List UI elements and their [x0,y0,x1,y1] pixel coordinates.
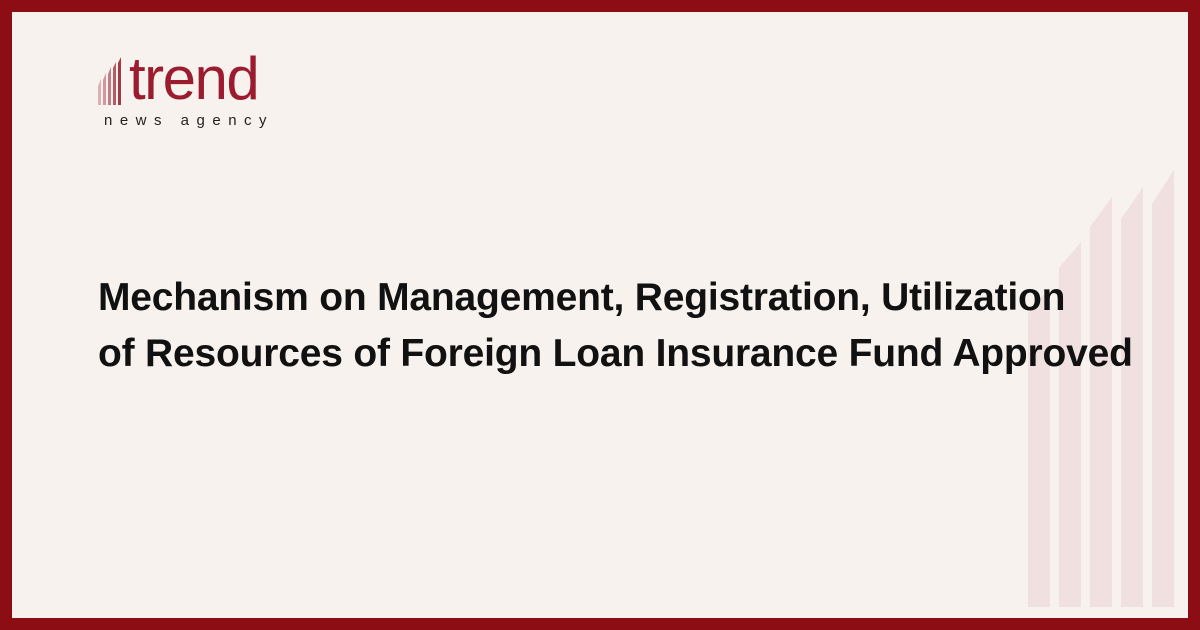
card-canvas: trend news agency Mechanism on Managemen… [12,12,1188,618]
ascending-bars-watermark-icon [1028,170,1180,607]
watermark-bar [1152,170,1174,607]
logo-tagline: news agency [104,112,358,129]
headline-line-2: of Resources of Foreign Loan Insurance F… [98,326,1108,382]
logo-lockup: trend [98,44,358,106]
logo-bar [108,67,111,105]
logo-bar [103,73,106,105]
brand-logo[interactable]: trend news agency [98,44,358,129]
social-share-card: trend news agency Mechanism on Managemen… [0,0,1200,630]
logo-wordmark: trend [129,52,258,106]
watermark-bar [1090,197,1112,607]
ascending-bars-icon [98,55,128,105]
article-headline: Mechanism on Management, Registration, U… [98,270,1108,382]
logo-bar [113,62,116,105]
watermark-bar [1121,187,1143,607]
headline-line-1: Mechanism on Management, Registration, U… [98,270,1108,326]
logo-bar [118,57,121,105]
logo-bar [98,79,101,105]
